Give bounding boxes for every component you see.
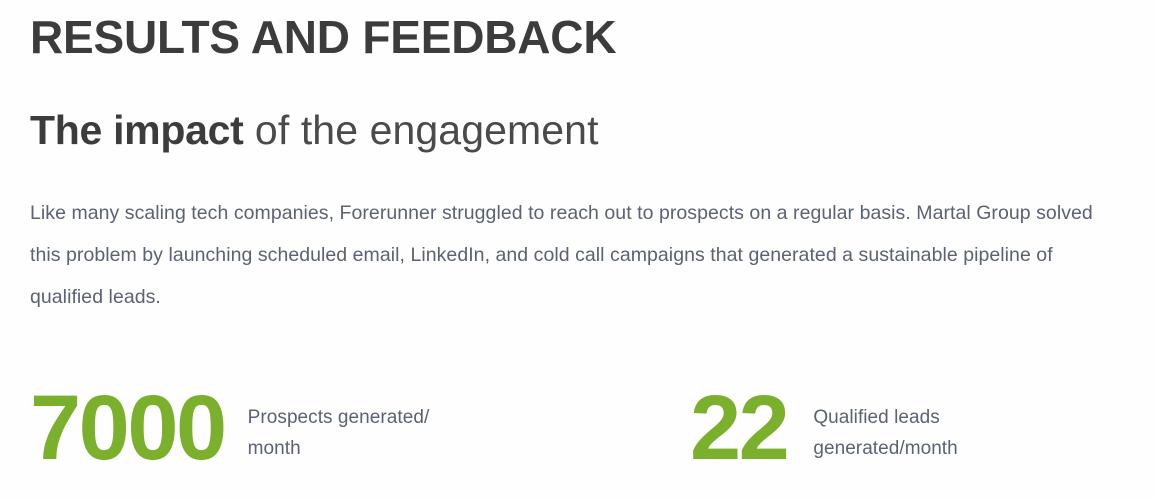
stat-label-prospects: Prospects generated/ month [248,380,486,464]
section-body-paragraph: Like many scaling tech companies, Foreru… [30,192,1122,318]
stat-block-qualified-leads: 22 Qualified leads generated/month [690,380,1043,480]
results-and-feedback-section: RESULTS AND FEEDBACK The impact of the e… [0,0,1155,500]
section-subheading: The impact of the engagement [30,108,599,153]
stat-label-qualified-leads: Qualified leads generated/month [813,380,1043,464]
stats-row: 7000 Prospects generated/ month 22 Quali… [0,380,1155,480]
stat-value-prospects: 7000 [30,380,225,470]
stat-value-qualified-leads: 22 [690,380,787,470]
stat-block-prospects: 7000 Prospects generated/ month [30,380,486,480]
subheading-emphasis: The impact [30,107,243,153]
subheading-remainder: of the engagement [243,107,598,153]
section-eyebrow-heading: RESULTS AND FEEDBACK [30,14,616,60]
